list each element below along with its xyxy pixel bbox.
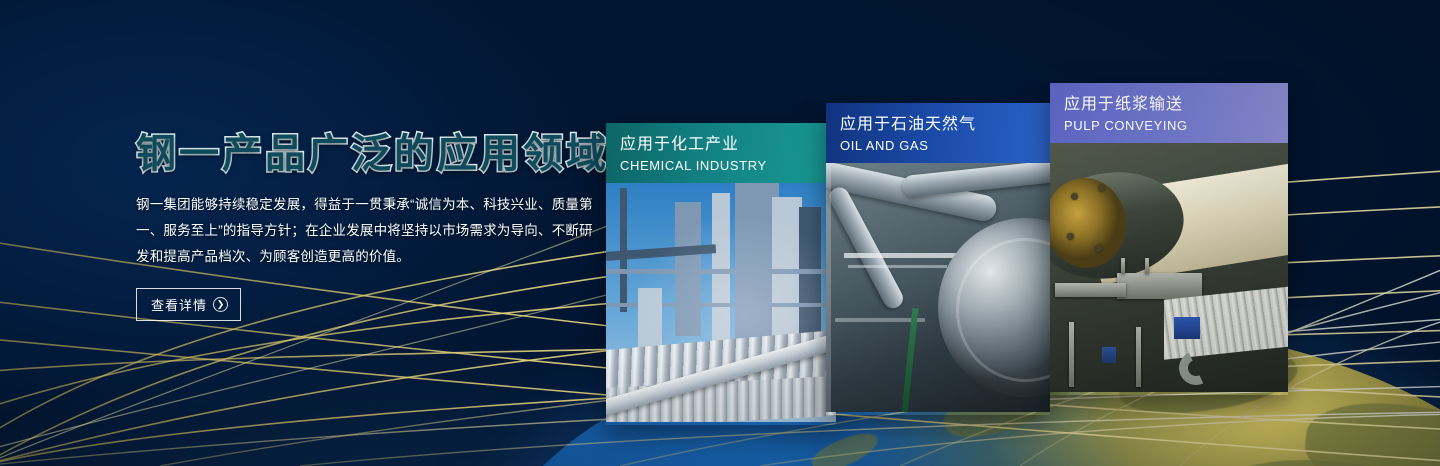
chevron-right-circle-icon: ❯ (213, 297, 228, 312)
application-card-pulp[interactable]: 应用于纸浆输送 PULP CONVEYING (1050, 83, 1288, 395)
card-header-oilgas: 应用于石油天然气 OIL AND GAS (826, 103, 1050, 163)
card-title-cn: 应用于化工产业 (620, 134, 836, 156)
card-title-cn: 应用于纸浆输送 (1064, 94, 1288, 116)
hero-description: 钢一集团能够持续稳定发展，得益于一贯秉承“诚信为本、科技兴业、质量第一、服务至上… (136, 192, 606, 270)
card-photo-chemical (606, 183, 836, 422)
card-header-chemical: 应用于化工产业 CHEMICAL INDUSTRY (606, 123, 836, 183)
card-title-en: CHEMICAL INDUSTRY (620, 157, 836, 175)
card-photo-oilgas (826, 163, 1050, 412)
card-title-cn: 应用于石油天然气 (840, 114, 1050, 136)
application-card-oilgas[interactable]: 应用于石油天然气 OIL AND GAS (826, 103, 1050, 415)
application-card-chemical[interactable]: 应用于化工产业 CHEMICAL INDUSTRY (606, 123, 836, 425)
hero-copy: 钢一产品广泛的应用领域 钢一集团能够持续稳定发展，得益于一贯秉承“诚信为本、科技… (136, 132, 606, 321)
page-title: 钢一产品广泛的应用领域 (136, 132, 606, 176)
view-details-label: 查看详情 (151, 295, 207, 314)
card-title-en: OIL AND GAS (840, 137, 1050, 155)
card-header-pulp: 应用于纸浆输送 PULP CONVEYING (1050, 83, 1288, 143)
card-photo-pulp (1050, 143, 1288, 392)
hero-banner: 钢一产品广泛的应用领域 钢一集团能够持续稳定发展，得益于一贯秉承“诚信为本、科技… (0, 0, 1440, 466)
card-title-en: PULP CONVEYING (1064, 117, 1288, 135)
view-details-button[interactable]: 查看详情 ❯ (136, 288, 241, 321)
